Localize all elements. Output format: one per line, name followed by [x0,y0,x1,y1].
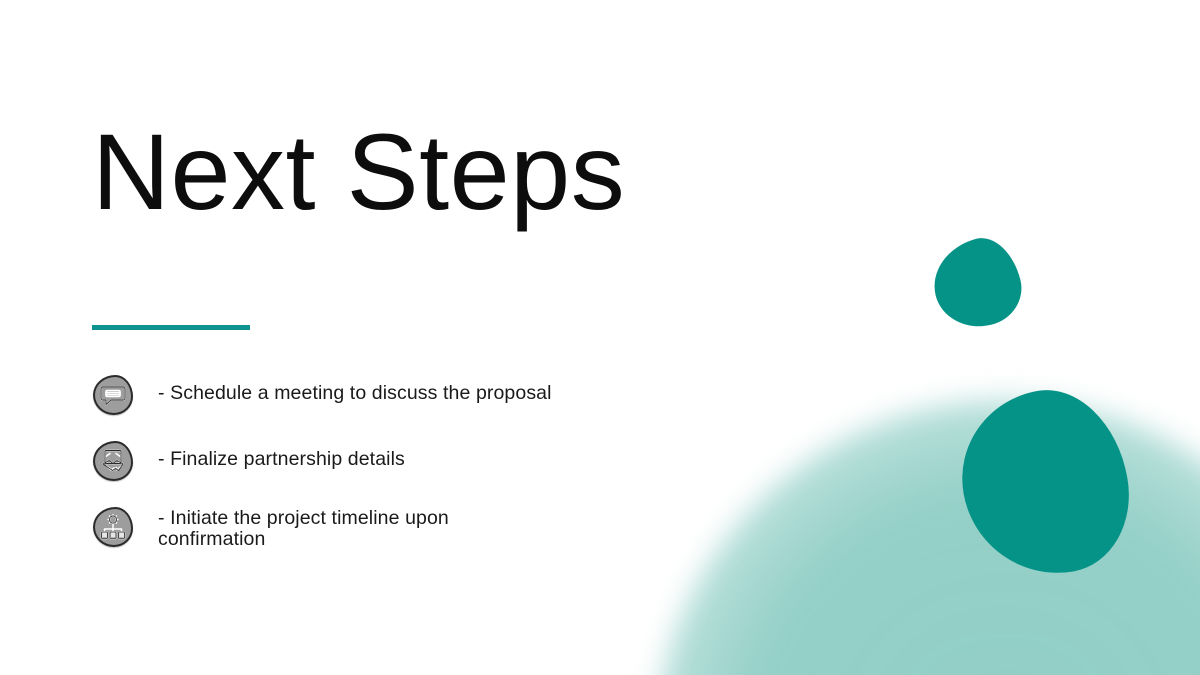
list-item: - Schedule a meeting to discuss the prop… [92,374,612,418]
teal-blob-small-shape [925,231,1029,336]
bullet-icon-badge [92,374,134,416]
list-item-label-line1: - Initiate the project timeline upon [158,508,612,529]
list-item-label-line2: confirmation [158,529,612,550]
decoration-layer [0,0,1200,675]
speech-bubble-icon [92,374,134,416]
list-item: - Finalize partnership details [92,440,612,484]
list-item: - Initiate the project timeline upon con… [92,506,612,550]
teal-blob-large-shape [948,378,1141,588]
org-chart-gear-icon [92,506,134,548]
bullet-icon-badge [92,506,134,548]
list-item-label: - Initiate the project timeline upon con… [158,506,612,550]
slide-title: Next Steps [92,118,625,226]
list-item-label: - Finalize partnership details [158,440,612,470]
list-item-label: - Schedule a meeting to discuss the prop… [158,374,612,404]
pale-teal-glow-shape [655,400,1200,675]
accent-underline [92,325,250,330]
bullet-icon-badge [92,440,134,482]
slide-canvas: Next Steps - Schedule a meeting [0,0,1200,675]
bullet-list: - Schedule a meeting to discuss the prop… [92,374,612,550]
handshake-icon [92,440,134,482]
